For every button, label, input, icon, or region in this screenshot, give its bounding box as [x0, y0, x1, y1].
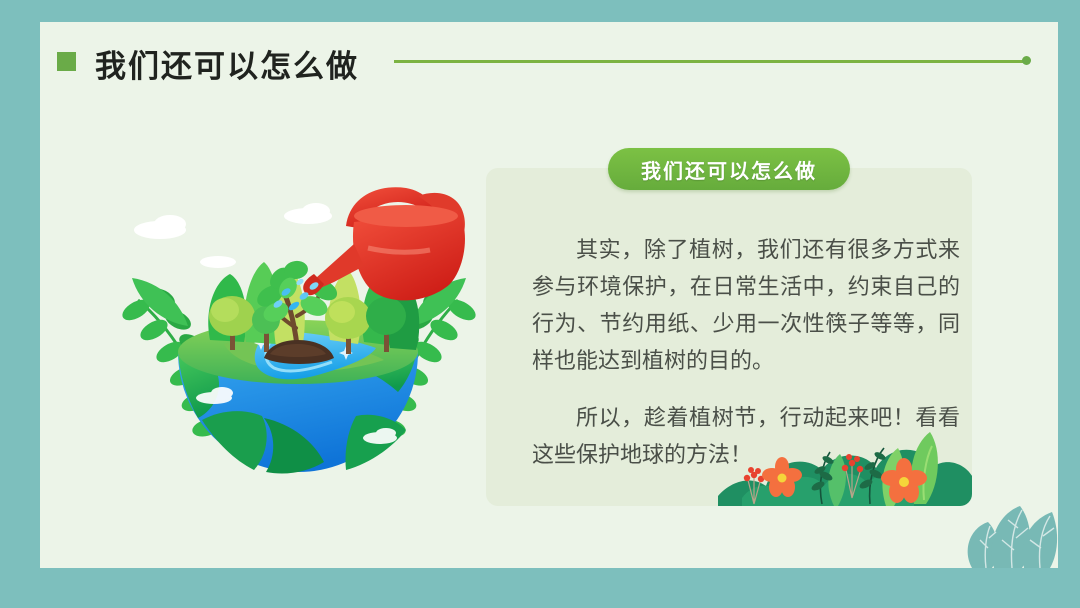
header-divider-dot-icon [1022, 56, 1031, 65]
square-bullet-icon [57, 52, 76, 71]
slide-root: 我们还可以怎么做 [0, 0, 1080, 608]
slide-canvas: 我们还可以怎么做 [40, 22, 1058, 568]
page-title: 我们还可以怎么做 [95, 41, 359, 86]
paragraph-1: 其实，除了植树，我们还有很多方式来参与环境保护，在日常生活中，约束自己的行为、节… [532, 232, 960, 380]
paragraph-2: 所以，趁着植树节，行动起来吧！看看这些保护地球的方法！ [532, 400, 960, 474]
section-badge-label: 我们还可以怎么做 [641, 155, 817, 184]
slide-header: 我们还可以怎么做 [57, 47, 1039, 87]
card-body-text: 其实，除了植树，我们还有很多方式来参与环境保护，在日常生活中，约束自己的行为、节… [532, 232, 960, 474]
section-badge: 我们还可以怎么做 [608, 148, 850, 190]
earth-illustration [118, 170, 478, 500]
cloud-icon [134, 203, 332, 268]
earth-illustration-svg [118, 170, 478, 500]
corner-leaf-cluster [948, 498, 1058, 568]
header-divider-line [394, 60, 1027, 63]
